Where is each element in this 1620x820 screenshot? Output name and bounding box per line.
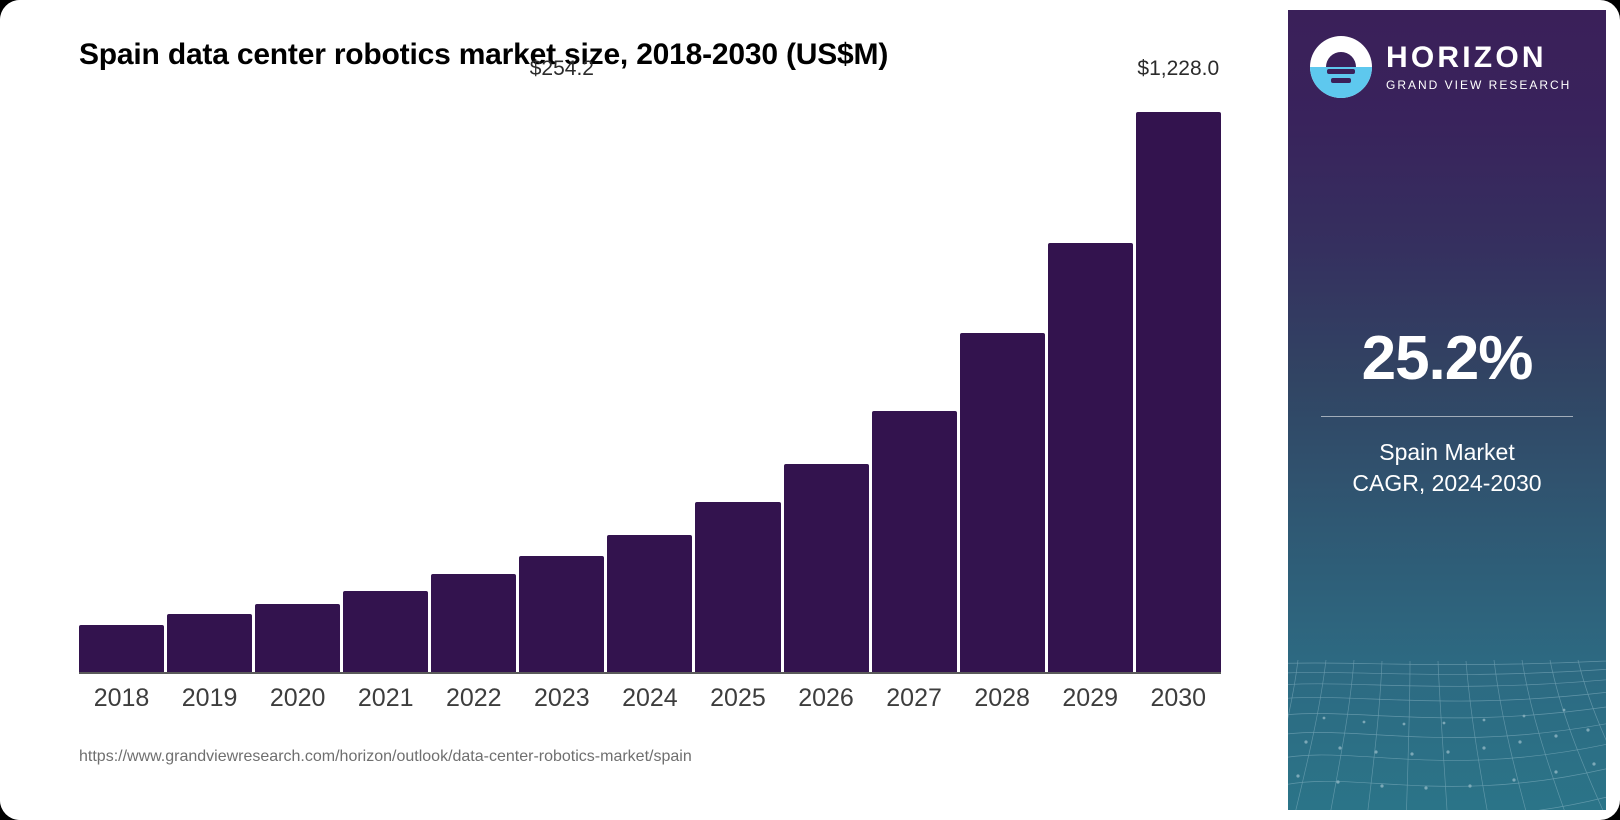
x-tick-2019: 2019	[167, 684, 252, 718]
wireframe-mesh-graphic	[1288, 630, 1606, 810]
plot-area: $254.2$1,228.0	[79, 88, 1221, 674]
logo-tagline: GRAND VIEW RESEARCH	[1386, 78, 1571, 92]
bar[interactable]	[784, 464, 869, 672]
bar[interactable]	[255, 604, 340, 672]
bar-slot	[1048, 88, 1133, 672]
x-tick-2025: 2025	[695, 684, 780, 718]
logo-dome-shape	[1326, 52, 1356, 67]
x-tick-2027: 2027	[872, 684, 957, 718]
bar-slot	[255, 88, 340, 672]
horizon-logo[interactable]: HORIZON GRAND VIEW RESEARCH	[1310, 36, 1571, 98]
bar-slot: $254.2	[519, 88, 604, 672]
x-axis-line	[79, 672, 1221, 674]
bar-value-label: $1,228.0	[1137, 57, 1219, 81]
x-tick-2024: 2024	[607, 684, 692, 718]
screenshot-frame: Spain data center robotics market size, …	[0, 0, 1620, 820]
bar[interactable]	[79, 625, 164, 672]
x-tick-2029: 2029	[1048, 684, 1133, 718]
bar[interactable]	[695, 502, 780, 672]
bar-slot	[79, 88, 164, 672]
logo-bar-lower	[1331, 78, 1351, 83]
source-url[interactable]: https://www.grandviewresearch.com/horizo…	[79, 748, 692, 766]
bar[interactable]	[1048, 243, 1133, 672]
x-tick-2028: 2028	[960, 684, 1045, 718]
bar[interactable]	[167, 614, 252, 672]
cagr-value: 25.2%	[1288, 328, 1606, 390]
x-tick-2030: 2030	[1136, 684, 1221, 718]
bar[interactable]	[343, 591, 428, 672]
chart-title: Spain data center robotics market size, …	[79, 38, 888, 72]
bar[interactable]	[960, 333, 1045, 672]
cagr-label-line1: Spain Market	[1288, 437, 1606, 468]
logo-word: HORIZON	[1386, 42, 1571, 74]
logo-wordmark: HORIZON GRAND VIEW RESEARCH	[1386, 42, 1571, 92]
x-tick-2021: 2021	[343, 684, 428, 718]
x-tick-2018: 2018	[79, 684, 164, 718]
horizon-logo-icon	[1310, 36, 1372, 98]
bar-slot	[607, 88, 692, 672]
bar[interactable]: $254.2	[519, 556, 604, 672]
bar-series: $254.2$1,228.0	[79, 88, 1221, 672]
x-tick-2022: 2022	[431, 684, 516, 718]
bar-slot	[695, 88, 780, 672]
bar-slot	[784, 88, 869, 672]
bar-slot: $1,228.0	[1136, 88, 1221, 672]
bar-slot	[960, 88, 1045, 672]
chart-panel: Spain data center robotics market size, …	[0, 0, 1292, 820]
bar[interactable]: $1,228.0	[1136, 112, 1221, 672]
bar[interactable]	[431, 574, 516, 672]
bar-slot	[872, 88, 957, 672]
x-tick-2026: 2026	[784, 684, 869, 718]
bar[interactable]	[872, 411, 957, 672]
bar-slot	[343, 88, 428, 672]
bar-value-label: $254.2	[530, 57, 594, 81]
bar-slot	[431, 88, 516, 672]
x-tick-2023: 2023	[519, 684, 604, 718]
cagr-divider	[1321, 416, 1573, 417]
bar[interactable]	[607, 535, 692, 672]
branding-sidebar: HORIZON GRAND VIEW RESEARCH 25.2% Spain …	[1288, 10, 1606, 810]
x-tick-2020: 2020	[255, 684, 340, 718]
x-axis-tick-labels: 2018201920202021202220232024202520262027…	[79, 684, 1221, 718]
bar-slot	[167, 88, 252, 672]
logo-bar-upper	[1327, 69, 1355, 74]
cagr-block: 25.2% Spain Market CAGR, 2024-2030	[1288, 328, 1606, 499]
cagr-label-line2: CAGR, 2024-2030	[1288, 468, 1606, 499]
